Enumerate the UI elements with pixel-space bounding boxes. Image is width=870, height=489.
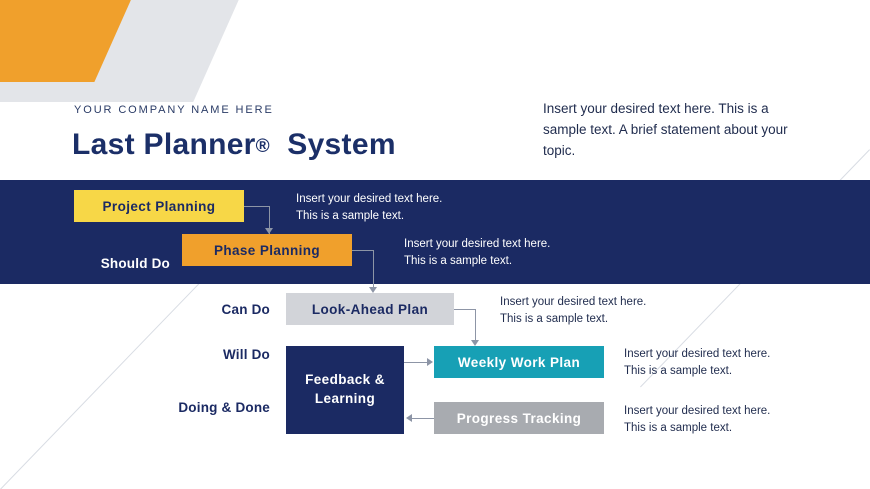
connector-progress-to-feedback <box>412 418 436 419</box>
stage-label-will-do: Will Do <box>160 347 270 362</box>
stage-label-should-do: Should Do <box>60 256 170 271</box>
arrow-feedback-to-weekly-icon <box>427 358 433 366</box>
box-weekly-work-plan[interactable]: Weekly Work Plan <box>434 346 604 378</box>
page-title-main: Last Planner <box>72 128 256 161</box>
box-look-ahead-plan[interactable]: Look-Ahead Plan <box>286 293 454 325</box>
connector-project-to-phase-horizontal <box>244 206 270 207</box>
note-look-ahead-line2: This is a sample text. <box>500 311 730 328</box>
box-feedback-line2: Learning <box>315 390 375 409</box>
note-phase-planning: Insert your desired text here. This is a… <box>404 236 624 269</box>
box-project-planning[interactable]: Project Planning <box>74 190 244 222</box>
slide-canvas: YOUR COMPANY NAME HERE Last Planner® Sys… <box>0 0 870 489</box>
box-progress-tracking[interactable]: Progress Tracking <box>434 402 604 434</box>
page-title-tail: System <box>287 128 396 161</box>
note-progress-tracking-line2: This is a sample text. <box>624 420 854 437</box>
note-look-ahead-line1: Insert your desired text here. <box>500 294 730 311</box>
note-weekly-work-plan-line1: Insert your desired text here. <box>624 346 854 363</box>
box-phase-planning[interactable]: Phase Planning <box>182 234 352 266</box>
note-project-planning-line1: Insert your desired text here. <box>296 191 516 208</box>
connector-lookahead-to-weekly-horizontal <box>454 309 476 310</box>
note-project-planning: Insert your desired text here. This is a… <box>296 191 516 224</box>
page-title: Last Planner® System <box>72 128 396 162</box>
company-name-label: YOUR COMPANY NAME HERE <box>74 104 274 116</box>
note-phase-planning-line1: Insert your desired text here. <box>404 236 624 253</box>
note-progress-tracking: Insert your desired text here. This is a… <box>624 403 854 436</box>
intro-text: Insert your desired text here. This is a… <box>543 99 793 162</box>
note-progress-tracking-line1: Insert your desired text here. <box>624 403 854 420</box>
note-look-ahead: Insert your desired text here. This is a… <box>500 294 730 327</box>
note-phase-planning-line2: This is a sample text. <box>404 253 624 270</box>
connector-phase-to-lookahead-horizontal <box>352 250 374 251</box>
stage-label-doing-done: Doing & Done <box>150 400 270 415</box>
stage-label-can-do: Can Do <box>160 302 270 317</box>
connector-feedback-to-weekly <box>404 362 428 363</box>
note-weekly-work-plan-line2: This is a sample text. <box>624 363 854 380</box>
box-feedback-line1: Feedback & <box>305 371 385 390</box>
arrow-progress-to-feedback-icon <box>406 414 412 422</box>
connector-lookahead-to-weekly-vertical <box>475 309 476 343</box>
registered-trademark-icon: ® <box>256 136 270 157</box>
note-project-planning-line2: This is a sample text. <box>296 208 516 225</box>
connector-phase-to-lookahead-vertical <box>373 250 374 290</box>
note-weekly-work-plan: Insert your desired text here. This is a… <box>624 346 854 379</box>
box-feedback-learning[interactable]: Feedback & Learning <box>286 346 404 434</box>
